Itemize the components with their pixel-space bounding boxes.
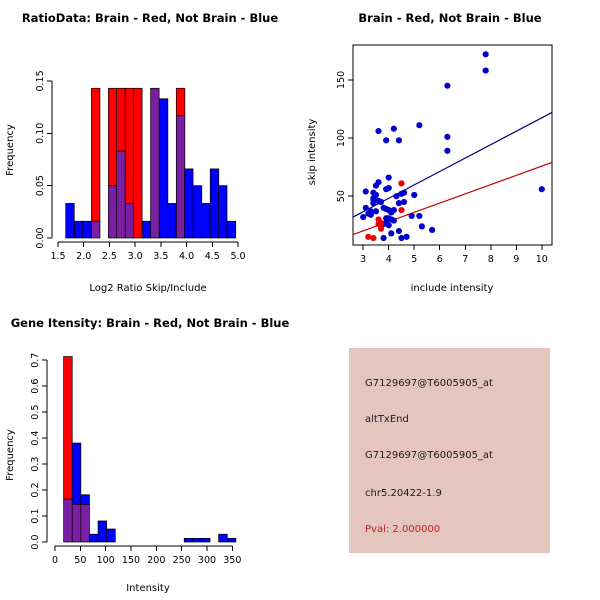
histogram-bar — [117, 151, 126, 238]
histogram-bar — [184, 538, 193, 542]
scatter-point — [375, 128, 381, 134]
gene-intensity-y-tick-label: 0.7 — [30, 353, 41, 368]
scatter-point — [483, 67, 489, 73]
scatter-point — [370, 200, 376, 206]
scatter-point — [411, 192, 417, 198]
scatter-plot-frame — [353, 45, 552, 245]
gene-intensity-x-tick-label: 300 — [198, 555, 216, 566]
scatter-point — [368, 212, 374, 218]
info-location: chr5.20422-1.9 — [365, 488, 442, 499]
histogram-bar — [117, 88, 126, 151]
histogram-bar — [89, 534, 98, 542]
scatter-point — [419, 223, 425, 229]
histogram-bar — [81, 495, 90, 505]
info-event-type: altTxEnd — [365, 414, 409, 425]
scatter-point — [416, 122, 422, 128]
scatter-y-tick-label: 100 — [336, 129, 347, 147]
intensity-scatter-title: Brain - Red, Not Brain - Blue — [358, 11, 541, 25]
scatter-point — [365, 234, 371, 240]
scatter-x-tick-label: 7 — [462, 254, 468, 265]
scatter-point — [373, 183, 379, 189]
scatter-point — [388, 230, 394, 236]
ratio-histogram-x-tick-label: 2.0 — [76, 251, 91, 262]
scatter-x-tick-label: 4 — [386, 254, 392, 265]
histogram-bar — [107, 529, 116, 542]
histogram-bar — [134, 88, 143, 238]
scatter-point — [363, 188, 369, 194]
scatter-point — [444, 134, 450, 140]
ratio-histogram-svg: RatioData: Brain - Red, Not Brain - Blue… — [0, 0, 300, 300]
scatter-x-tick-label: 9 — [513, 254, 519, 265]
ratio-histogram-title: RatioData: Brain - Red, Not Brain - Blue — [22, 11, 279, 25]
gene-intensity-x-tick-label: 150 — [122, 555, 140, 566]
scatter-points — [360, 51, 545, 241]
gene-intensity-histogram-svg: Gene Itensity: Brain - Red, Not Brain - … — [0, 300, 300, 600]
scatter-point — [409, 213, 415, 219]
ratio-histogram-xlabel: Log2 Ratio Skip/Include — [89, 283, 206, 294]
scatter-point — [386, 222, 392, 228]
scatter-point — [398, 235, 404, 241]
histogram-bar — [193, 538, 202, 542]
scatter-point — [378, 226, 384, 232]
ratio-histogram-x-tick-label: 1.5 — [50, 251, 65, 262]
histogram-bar — [72, 504, 81, 542]
gene-intensity-x-tick-label: 100 — [97, 555, 115, 566]
ratio-histogram-bars — [66, 88, 236, 238]
histogram-bar — [219, 534, 228, 542]
histogram-bar — [176, 88, 185, 115]
scatter-point — [360, 214, 366, 220]
scatter-point — [429, 227, 435, 233]
scatter-point — [373, 208, 379, 214]
histogram-bar — [108, 88, 117, 185]
scatter-point — [370, 235, 376, 241]
scatter-point — [396, 137, 402, 143]
ratio-histogram-ylabel: Frequency — [5, 124, 16, 176]
scatter-point — [378, 199, 384, 205]
ratio-histogram-x-tick-label: 5.0 — [230, 251, 245, 262]
scatter-point — [391, 217, 397, 223]
histogram-bar — [159, 99, 168, 238]
ratio-histogram-panel: RatioData: Brain - Red, Not Brain - Blue… — [0, 0, 300, 300]
scatter-point — [444, 148, 450, 154]
gene-intensity-y-tick-label: 0.1 — [30, 508, 41, 523]
histogram-bar — [218, 186, 227, 238]
scatter-point — [539, 186, 545, 192]
scatter-point — [386, 174, 392, 180]
scatter-point — [398, 180, 404, 186]
scatter-point — [483, 51, 489, 57]
ratio-histogram-y-tick-label: 0.15 — [35, 70, 46, 91]
histogram-bar — [64, 499, 73, 542]
scatter-point — [396, 200, 402, 206]
gene-intensity-y-tick-label: 0.0 — [30, 534, 41, 549]
histogram-bar — [72, 443, 81, 504]
scatter-x-tick-label: 10 — [536, 254, 548, 265]
scatter-point — [396, 228, 402, 234]
scatter-point — [393, 193, 399, 199]
histogram-bar — [210, 169, 219, 238]
histogram-bar — [201, 203, 210, 238]
scatter-point — [398, 207, 404, 213]
histogram-bar — [83, 221, 92, 238]
ratio-histogram-x-tick-label: 4.0 — [179, 251, 194, 262]
gene-intensity-x-tick-label: 200 — [147, 555, 165, 566]
gene-intensity-y-tick-label: 0.5 — [30, 405, 41, 420]
gene-intensity-y-tick-label: 0.6 — [30, 379, 41, 394]
scatter-ylabel: skip intensity — [307, 119, 318, 186]
histogram-bar — [125, 203, 134, 238]
scatter-point — [383, 137, 389, 143]
histogram-bar — [91, 221, 100, 238]
histogram-bar — [151, 88, 160, 238]
histogram-bar — [185, 169, 194, 238]
scatter-plot-box — [353, 45, 552, 245]
scatter-point — [381, 235, 387, 241]
gene-intensity-histogram-panel: Gene Itensity: Brain - Red, Not Brain - … — [0, 300, 300, 600]
scatter-y-tick-label: 50 — [336, 190, 347, 202]
info-pval: Pval: 2.000000 — [365, 524, 440, 535]
histogram-bar — [193, 186, 202, 238]
scatter-x-tick-label: 6 — [437, 254, 443, 265]
probe-info-panel: G7129697@T6005905_at altTxEnd G7129697@T… — [349, 348, 550, 553]
histogram-bar — [66, 203, 75, 238]
scatter-point — [388, 209, 394, 215]
ratio-histogram-x-tick-label: 4.5 — [205, 251, 220, 262]
intensity-scatter-svg: Brain - Red, Not Brain - Blue 3456789105… — [300, 0, 600, 300]
histogram-bar — [98, 521, 107, 542]
ratio-histogram-x-tick-label: 3.5 — [153, 251, 168, 262]
histogram-bar — [81, 504, 90, 542]
gene-intensity-x-tick-label: 350 — [223, 555, 241, 566]
ratio-histogram-x-tick-label: 2.5 — [102, 251, 117, 262]
histogram-bar — [201, 538, 210, 542]
scatter-y-tick-label: 150 — [336, 71, 347, 89]
gene-intensity-x-tick-label: 250 — [173, 555, 191, 566]
scatter-fit-lines — [353, 112, 552, 234]
histogram-bar — [108, 186, 117, 238]
histogram-bar — [176, 115, 185, 238]
gene-intensity-x-tick-label: 0 — [52, 555, 58, 566]
histogram-bar — [74, 221, 83, 238]
histogram-bar — [64, 357, 73, 500]
gene-intensity-histogram-title: Gene Itensity: Brain - Red, Not Brain - … — [11, 316, 290, 330]
histogram-bar — [168, 203, 177, 238]
info-probe-id: G7129697@T6005905_at — [365, 378, 493, 389]
scatter-xlabel: include intensity — [411, 283, 494, 294]
scatter-point — [383, 186, 389, 192]
gene-intensity-axes: 0501001502002503003500.00.10.20.30.40.50… — [30, 353, 241, 566]
ratio-histogram-x-tick-label: 3.0 — [128, 251, 143, 262]
ratio-histogram-y-tick-label: 0.00 — [35, 227, 46, 248]
ratio-histogram-y-tick-label: 0.10 — [35, 123, 46, 144]
gene-intensity-bars — [64, 357, 236, 542]
histogram-bar — [142, 221, 151, 238]
gene-intensity-xlabel: Intensity — [126, 583, 170, 594]
histogram-bar — [125, 88, 134, 203]
scatter-x-tick-label: 3 — [360, 254, 366, 265]
scatter-point — [391, 126, 397, 132]
info-probe-id-2: G7129697@T6005905_at — [365, 450, 493, 461]
scatter-point — [416, 213, 422, 219]
scatter-point — [444, 83, 450, 89]
gene-intensity-x-tick-label: 50 — [74, 555, 86, 566]
ratio-histogram-y-tick-label: 0.05 — [35, 175, 46, 196]
scatter-x-tick-label: 8 — [488, 254, 494, 265]
histogram-bar — [91, 88, 100, 221]
histogram-bar — [227, 538, 236, 542]
scatter-point — [401, 199, 407, 205]
intensity-scatter-panel: Brain - Red, Not Brain - Blue 3456789105… — [300, 0, 600, 300]
scatter-x-tick-label: 5 — [411, 254, 417, 265]
gene-intensity-ylabel: Frequency — [5, 429, 16, 481]
gene-intensity-y-tick-label: 0.2 — [30, 483, 41, 498]
scatter-point — [363, 205, 369, 211]
scatter-point — [403, 234, 409, 240]
histogram-bar — [227, 221, 236, 238]
gene-intensity-y-tick-label: 0.3 — [30, 457, 41, 472]
gene-intensity-y-tick-label: 0.4 — [30, 431, 41, 446]
